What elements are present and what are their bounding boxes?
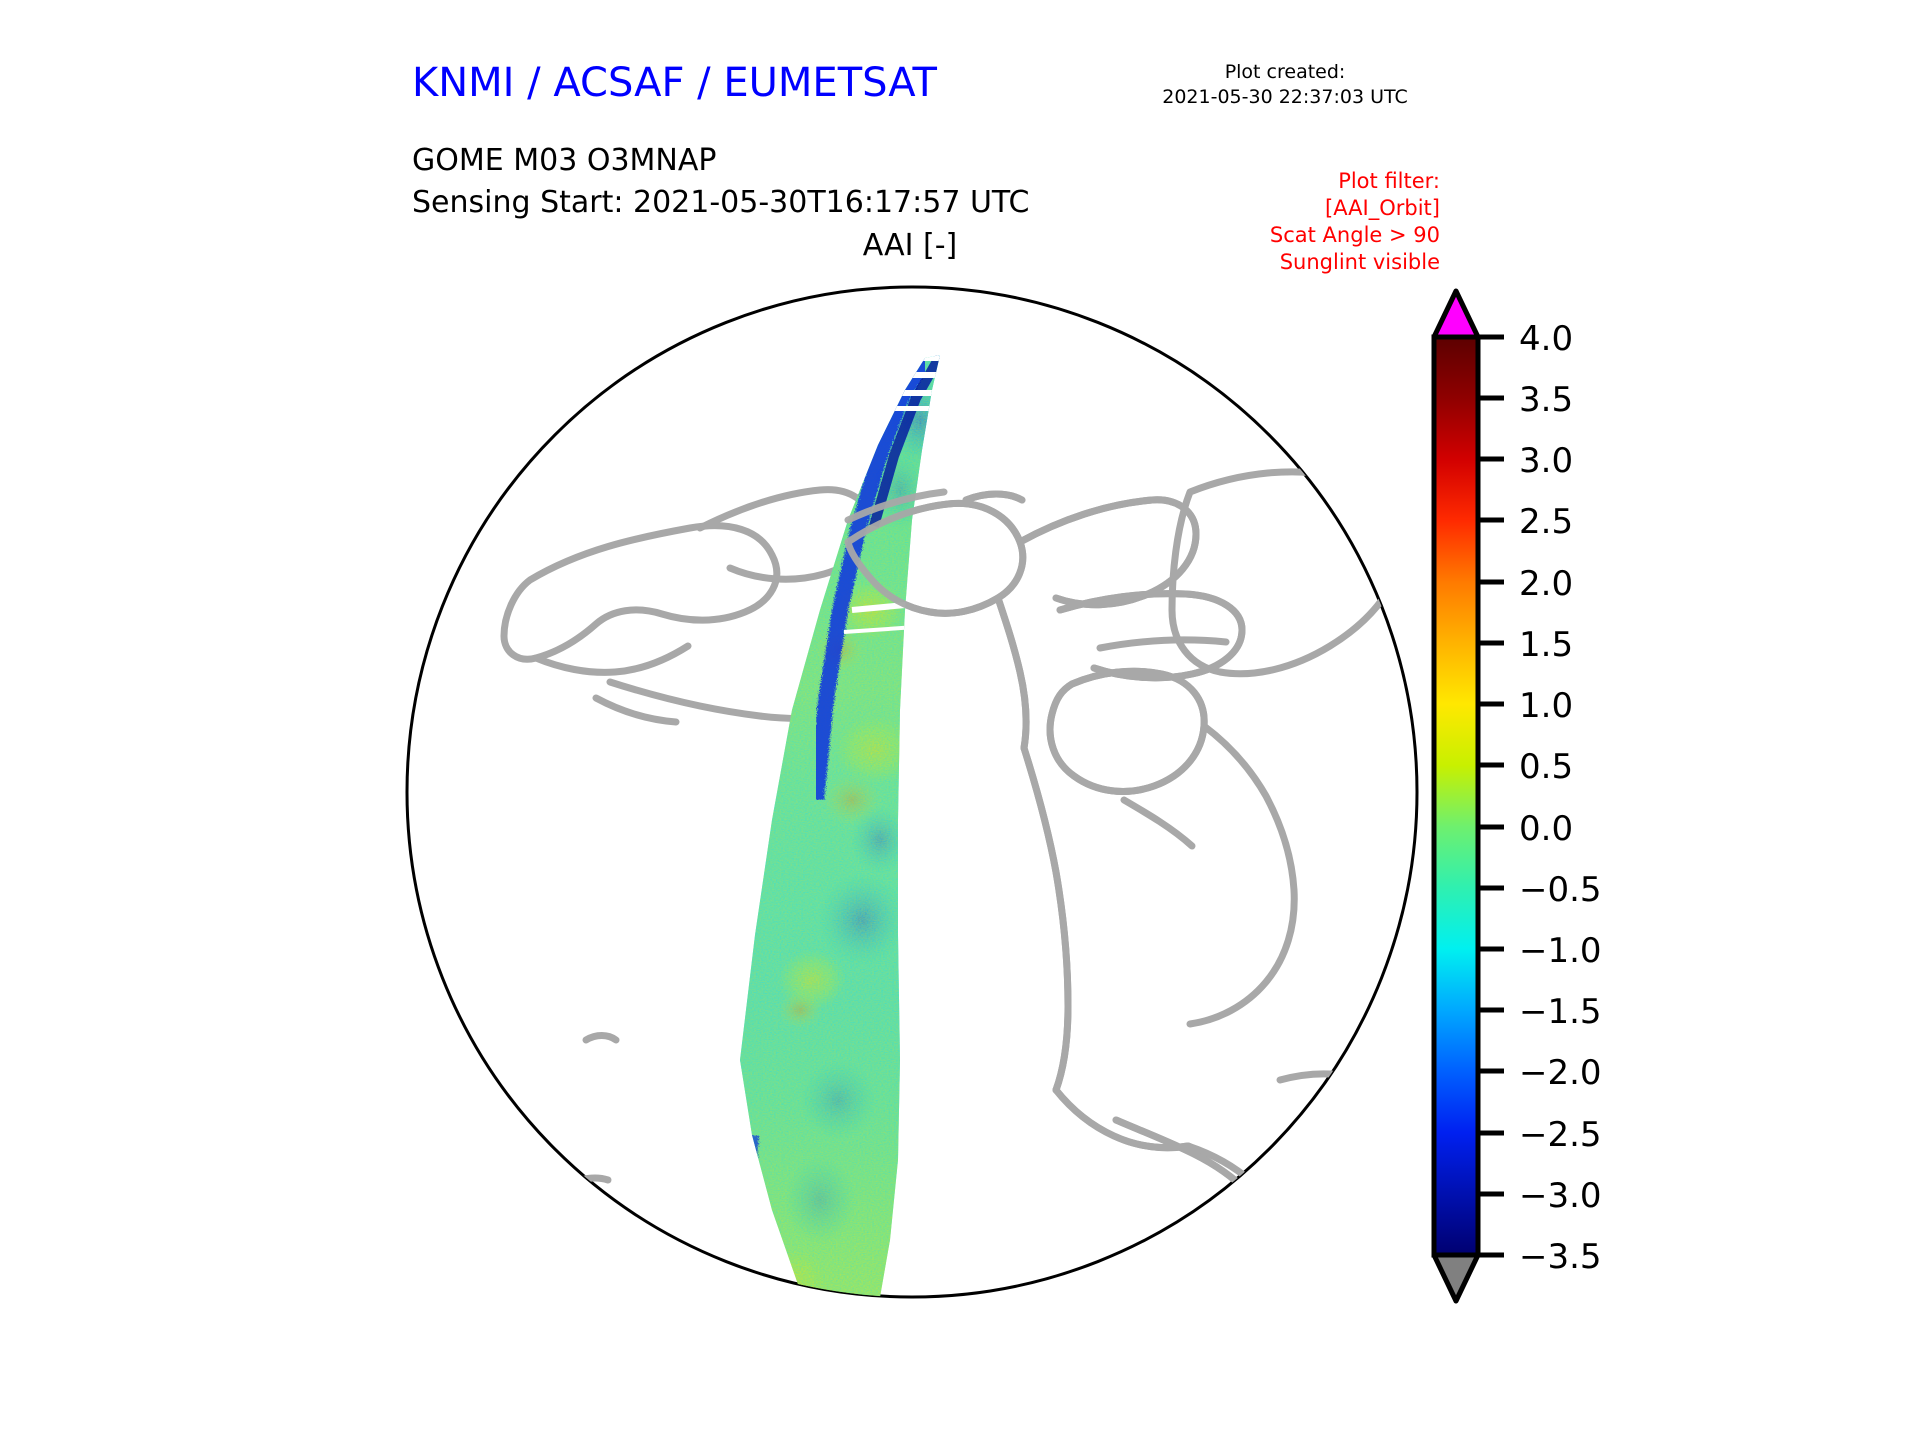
colorbar-gradient-bar (1434, 337, 1478, 1255)
cb-label-1: 3.5 (1519, 380, 1573, 420)
plot-created-value: 2021-05-30 22:37:03 UTC (1130, 85, 1440, 110)
cb-label-11: −1.5 (1519, 992, 1602, 1032)
plot-filter-scat-angle: Scat Angle > 90 (1140, 222, 1440, 249)
cb-label-2: 3.0 (1519, 441, 1573, 481)
colorbar-ticks (1478, 337, 1504, 1255)
sensing-start: Sensing Start: 2021-05-30T16:17:57 UTC (412, 182, 1029, 224)
cb-label-6: 1.0 (1519, 686, 1573, 726)
cb-label-9: −0.5 (1519, 870, 1602, 910)
cb-label-13: −2.5 (1519, 1115, 1602, 1155)
cb-label-8: 0.0 (1519, 809, 1573, 849)
plot-filter-title: Plot filter: (1140, 168, 1440, 195)
cb-label-12: −2.0 (1519, 1053, 1602, 1093)
orthographic-globe (400, 280, 1430, 1310)
map-panel (400, 280, 1430, 1310)
plot-created-block: Plot created: 2021-05-30 22:37:03 UTC (1130, 60, 1440, 110)
colorbar-over-arrow (1434, 291, 1478, 337)
colorbar: 4.0 3.5 3.0 2.5 2.0 1.5 1.0 0.5 0.0 −0.5… (1425, 285, 1715, 1365)
cb-label-15: −3.5 (1519, 1237, 1602, 1277)
dataset-name: GOME M03 O3MNAP (412, 140, 1029, 182)
cb-label-0: 4.0 (1519, 319, 1573, 359)
colorbar-under-arrow (1434, 1255, 1478, 1301)
plot-filter-product: [AAI_Orbit] (1140, 195, 1440, 222)
cb-label-14: −3.0 (1519, 1176, 1602, 1216)
cb-label-10: −1.0 (1519, 931, 1602, 971)
cb-label-7: 0.5 (1519, 747, 1573, 787)
plot-created-label: Plot created: (1130, 60, 1440, 85)
cb-label-3: 2.5 (1519, 502, 1573, 542)
cb-label-4: 2.0 (1519, 564, 1573, 604)
colorbar-panel: 4.0 3.5 3.0 2.5 2.0 1.5 1.0 0.5 0.0 −0.5… (1425, 285, 1715, 1365)
dataset-info-block: GOME M03 O3MNAP Sensing Start: 2021-05-3… (412, 140, 1029, 224)
plot-filter-sunglint: Sunglint visible (1140, 249, 1440, 276)
variable-title: AAI [-] (660, 228, 1160, 263)
colorbar-tick-labels: 4.0 3.5 3.0 2.5 2.0 1.5 1.0 0.5 0.0 −0.5… (1519, 319, 1602, 1277)
organisation-title: KNMI / ACSAF / EUMETSAT (412, 60, 937, 106)
plot-filter-block: Plot filter: [AAI_Orbit] Scat Angle > 90… (1140, 168, 1440, 276)
cb-label-5: 1.5 (1519, 625, 1573, 665)
